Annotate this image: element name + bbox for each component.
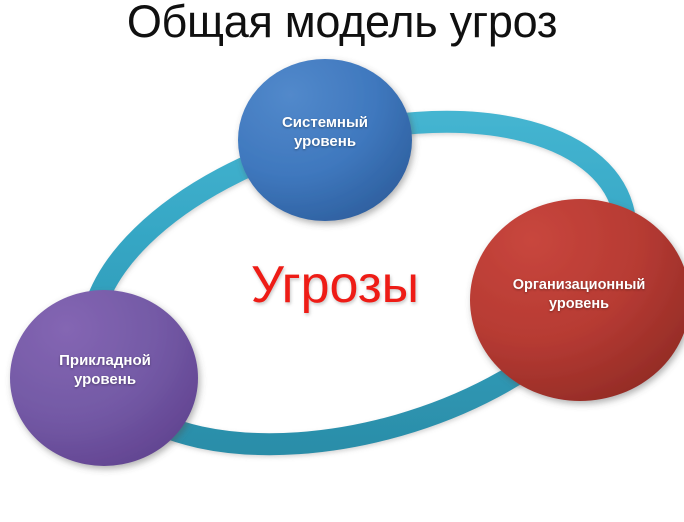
- slide-canvas: Общая модель угроз: [0, 0, 684, 522]
- node-circle-organizational[interactable]: [470, 199, 684, 401]
- center-label-threats: Угрозы: [180, 255, 490, 315]
- node-circle-application[interactable]: [10, 290, 198, 466]
- node-circle-system[interactable]: [238, 59, 412, 221]
